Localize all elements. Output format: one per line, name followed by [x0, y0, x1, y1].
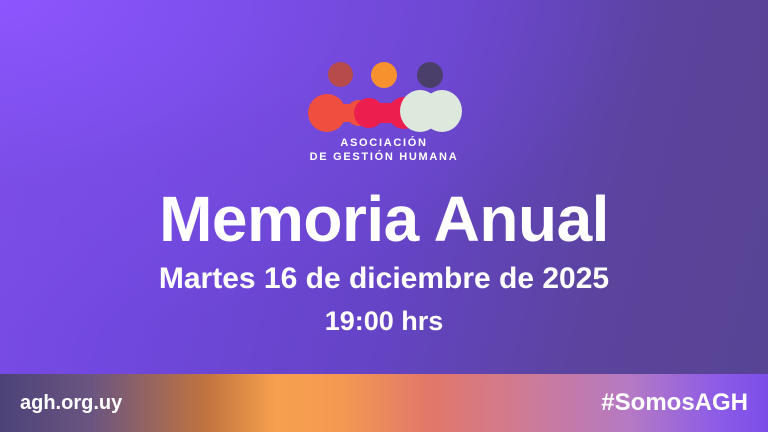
page-title: Memoria Anual [0, 184, 768, 254]
logo-circle-orange-icon [371, 62, 397, 88]
hashtag-label: #SomosAGH [601, 389, 748, 417]
logo-circle-brick-icon [328, 62, 353, 87]
logo-wordmark-line1: ASOCIACIÓN [310, 136, 459, 150]
event-time: 19:00 hrs [0, 304, 768, 338]
logo-wordmark: ASOCIACIÓN DE GESTIÓN HUMANA [310, 136, 459, 164]
event-date: Martes 16 de diciembre de 2025 [0, 260, 768, 298]
footer-bar: agh.org.uy #SomosAGH [0, 374, 768, 432]
poster-canvas: ASOCIACIÓN DE GESTIÓN HUMANA Memoria Anu… [0, 0, 768, 432]
agh-logo: ASOCIACIÓN DE GESTIÓN HUMANA [0, 58, 768, 164]
headline-block: Memoria Anual Martes 16 de diciembre de … [0, 184, 768, 338]
logo-mark [306, 58, 462, 134]
logo-blob-mint-icon [400, 90, 462, 134]
logo-circle-purple-icon [417, 62, 443, 88]
website-link[interactable]: agh.org.uy [20, 392, 122, 415]
logo-wordmark-line2: DE GESTIÓN HUMANA [310, 150, 459, 164]
